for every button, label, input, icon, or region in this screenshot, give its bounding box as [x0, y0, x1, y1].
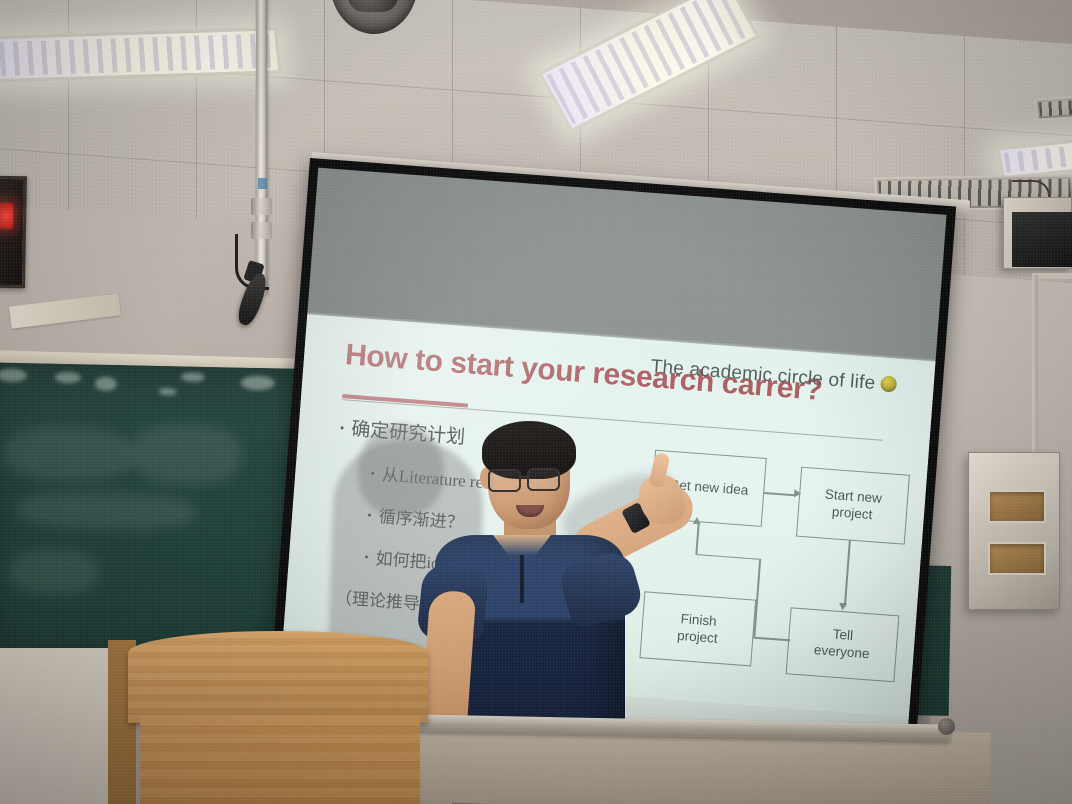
- polo-placket: [520, 555, 524, 603]
- red-led-icon: [0, 203, 14, 229]
- electrical-panel[interactable]: [968, 452, 1060, 610]
- edge-idea-to-start: [764, 492, 796, 496]
- flow-node-start-new-project: Start new project: [796, 467, 910, 544]
- pole-sticker: [258, 178, 267, 189]
- glasses-left-lens-icon: [488, 469, 521, 492]
- wall-conduit: [1032, 273, 1072, 279]
- grin-emoji-icon: [880, 375, 897, 392]
- vent-fins: [1039, 95, 1072, 116]
- light-louvers: [0, 33, 275, 76]
- bullet-marker: •: [339, 420, 345, 436]
- podium-wood-grain: [128, 631, 428, 723]
- arrowhead-tell-to-idea: [693, 517, 702, 525]
- arrowhead-idea-to-start: [794, 489, 802, 498]
- podium-wood-grain: [140, 716, 420, 804]
- glasses-bridge: [521, 476, 527, 478]
- panel-slot[interactable]: [988, 542, 1046, 575]
- edge-tell-to-idea-seg3: [696, 554, 760, 560]
- pole-coupler: [251, 198, 272, 215]
- edge-start-to-tell: [844, 540, 851, 607]
- circle-of-life-heading-text: The academic circle of life: [650, 356, 876, 394]
- arrowhead-start-to-tell: [839, 603, 848, 611]
- podium-body: [140, 716, 420, 804]
- podium-front-panel: [128, 631, 428, 723]
- tray-end-knob: [938, 718, 955, 735]
- side-cabinet: [0, 648, 116, 804]
- classroom-photo: How to start your research carrer? •确定研究…: [0, 0, 1072, 804]
- dome-inner: [348, 0, 398, 12]
- edge-tell-to-idea-seg1: [753, 637, 790, 641]
- edge-tell-to-idea-seg2: [753, 559, 760, 637]
- flow-node-tell-everyone: Tell everyone: [785, 607, 899, 682]
- ceiling-light-fixture: [0, 27, 282, 83]
- circle-of-life-heading: The academic circle of life: [650, 356, 928, 399]
- edge-tell-to-idea-seg4: [696, 524, 700, 554]
- glasses-right-lens-icon: [527, 468, 560, 491]
- wall-indicator-sign: [0, 176, 27, 289]
- speaker-grille: [1012, 212, 1072, 267]
- panel-slot[interactable]: [988, 490, 1046, 523]
- wall-conduit: [1032, 275, 1038, 455]
